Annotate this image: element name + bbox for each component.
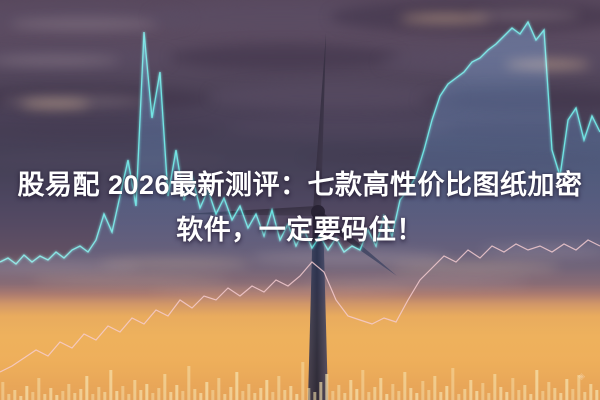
volume-bar <box>421 381 424 400</box>
volume-bar <box>481 383 484 400</box>
volume-bar <box>493 374 496 400</box>
volume-bar <box>583 392 586 400</box>
volume-bar <box>229 387 232 400</box>
volume-bar <box>253 393 256 400</box>
watermark-label: ◈ <box>578 371 586 382</box>
volume-bar <box>361 370 364 400</box>
volume-bar <box>55 395 58 400</box>
volume-bar <box>121 386 124 400</box>
volume-bar <box>115 391 118 400</box>
volume-bar <box>163 374 166 400</box>
volume-bar <box>301 362 304 400</box>
volume-bar <box>235 372 238 400</box>
volume-bar <box>79 389 82 400</box>
volume-bar <box>199 393 202 400</box>
volume-bar <box>133 380 136 400</box>
volume-bar <box>247 384 250 400</box>
volume-bar <box>595 390 598 400</box>
volume-bar <box>589 384 592 400</box>
volume-bar <box>541 391 544 400</box>
volume-bar <box>457 394 460 400</box>
volume-bar <box>331 391 334 400</box>
volume-bar <box>385 394 388 400</box>
volume-bar <box>49 388 52 400</box>
volume-bar <box>103 392 106 400</box>
volume-bar <box>271 392 274 400</box>
volume-bar <box>223 394 226 400</box>
volume-bar <box>451 368 454 400</box>
volume-bar <box>475 391 478 400</box>
volume-bar <box>433 376 436 400</box>
volume-bar <box>499 387 502 400</box>
volume-bar <box>241 391 244 400</box>
volume-bar <box>205 382 208 400</box>
volume-bar <box>319 382 322 400</box>
volume-bar <box>19 396 22 400</box>
volume-bar <box>217 378 220 400</box>
volume-bar <box>391 384 394 400</box>
volume-bar <box>547 382 550 400</box>
volume-bar <box>67 384 70 400</box>
page-title: 股易配 2026最新测评：七款高性价比图纸加密软件，一定要码住！ <box>0 163 600 253</box>
volume-bar <box>529 394 532 400</box>
banner-image: 股易配 2026最新测评：七款高性价比图纸加密软件，一定要码住！ ◈ <box>0 0 600 400</box>
volume-bar <box>517 390 520 400</box>
volume-bar <box>97 387 100 400</box>
volume-bar <box>559 393 562 400</box>
volume-bar <box>145 384 148 400</box>
volume-bar <box>13 390 16 400</box>
volume-bar <box>349 380 352 400</box>
volume-bar <box>367 392 370 400</box>
volume-bar <box>265 380 268 400</box>
volume-bar <box>307 388 310 400</box>
volume-bar <box>43 394 46 400</box>
volume-bar <box>1 382 4 400</box>
volume-bar <box>193 389 196 400</box>
volume-bar <box>259 388 262 400</box>
volume-bar <box>169 392 172 400</box>
volume-bar <box>85 376 88 400</box>
volume-bar <box>487 393 490 400</box>
volume-bar <box>127 394 130 400</box>
volume-bar <box>211 390 214 400</box>
volume-bar <box>139 390 142 400</box>
volume-bar <box>511 378 514 400</box>
volume-bar <box>397 391 400 400</box>
volume-bar <box>403 372 406 400</box>
volume-bar <box>439 392 442 400</box>
volume-bar <box>187 366 190 400</box>
volume-bar <box>157 388 160 400</box>
volume-bar <box>325 374 328 400</box>
volume-bar <box>31 392 34 400</box>
volume-bar <box>181 391 184 400</box>
volume-bar <box>343 393 346 400</box>
volume-bar <box>463 389 466 400</box>
volume-bar <box>151 393 154 400</box>
volume-bar <box>61 391 64 400</box>
volume-bar <box>571 389 574 400</box>
volume-bar <box>283 390 286 400</box>
volume-bar <box>415 393 418 400</box>
volume-bar <box>37 378 40 400</box>
volume-bar <box>427 390 430 400</box>
volume-bar <box>73 393 76 400</box>
volume-bar <box>535 370 538 400</box>
volume-bar <box>409 388 412 400</box>
volume-bar <box>373 387 376 400</box>
volume-bar <box>175 385 178 400</box>
volume-bar <box>469 380 472 400</box>
volume-bar <box>91 394 94 400</box>
volume-bar <box>565 379 568 400</box>
volume-bar <box>553 388 556 400</box>
volume-bar <box>313 392 316 400</box>
volume-bar <box>379 378 382 400</box>
volume-bar <box>505 392 508 400</box>
volume-bar <box>277 376 280 400</box>
volume-bar <box>109 370 112 400</box>
volume-bar <box>295 394 298 400</box>
volume-bar <box>337 385 340 400</box>
volume-bar <box>25 386 28 400</box>
volume-bar <box>523 385 526 400</box>
volume-bar <box>7 394 10 400</box>
volume-bar <box>289 386 292 400</box>
volume-bar <box>355 389 358 400</box>
volume-bar <box>445 386 448 400</box>
